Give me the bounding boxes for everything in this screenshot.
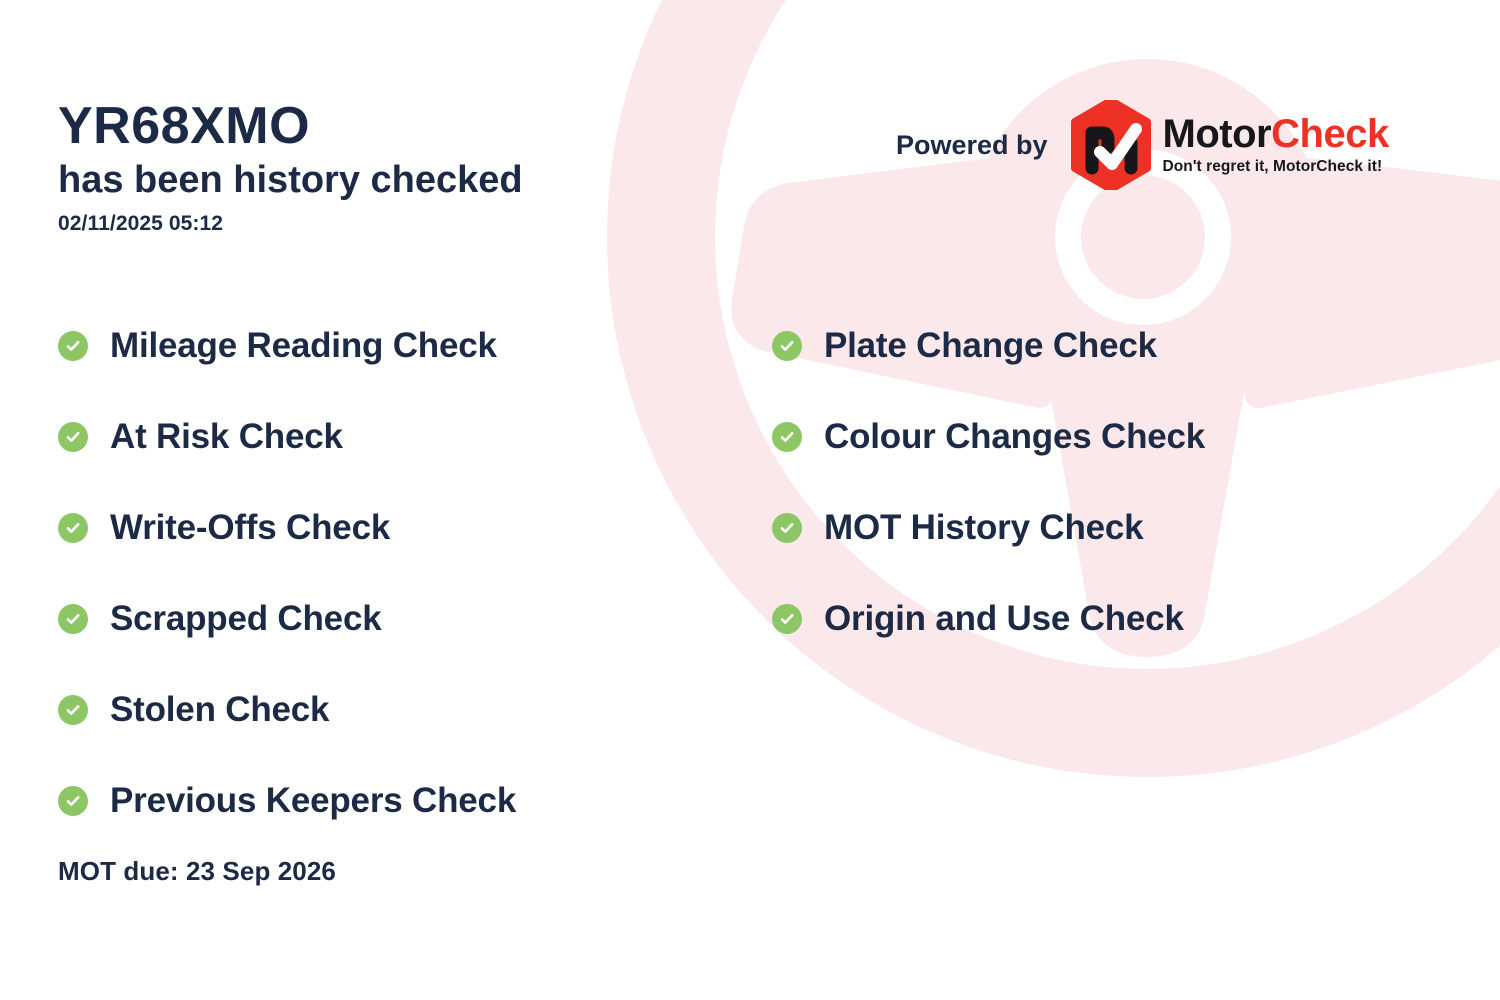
powered-by-brand: Powered by MotorCheck Don't regret it, M… <box>896 100 1389 190</box>
check-circle-icon <box>58 695 88 725</box>
check-circle-icon <box>772 422 802 452</box>
check-item-label: Write-Offs Check <box>110 508 390 548</box>
check-circle-icon <box>772 513 802 543</box>
mot-due-label: MOT due: 23 Sep 2026 <box>58 856 336 887</box>
check-item-label: MOT History Check <box>824 508 1143 548</box>
check-item: Write-Offs Check <box>58 482 758 573</box>
check-item-label: Origin and Use Check <box>824 599 1184 639</box>
vehicle-history-check-card: YR68XMO has been history checked 02/11/2… <box>0 0 1500 1000</box>
check-item-label: Plate Change Check <box>824 326 1157 366</box>
motorcheck-wordmark: MotorCheck Don't regret it, MotorCheck i… <box>1163 114 1389 176</box>
registration-plate: YR68XMO <box>58 98 778 154</box>
check-circle-icon <box>772 331 802 361</box>
check-circle-icon <box>772 604 802 634</box>
vehicle-header: YR68XMO has been history checked 02/11/2… <box>58 98 778 236</box>
motorcheck-hexagon-m-check-icon <box>1070 100 1152 190</box>
checks-right-column: Plate Change CheckColour Changes CheckMO… <box>772 300 1432 664</box>
check-circle-icon <box>58 786 88 816</box>
check-item-label: Colour Changes Check <box>824 417 1205 457</box>
check-item: Mileage Reading Check <box>58 300 758 391</box>
check-item: At Risk Check <box>58 391 758 482</box>
wordmark-text: MotorCheck <box>1163 114 1389 154</box>
check-item: MOT History Check <box>772 482 1432 573</box>
check-item-label: Stolen Check <box>110 690 329 730</box>
status-headline: has been history checked <box>58 156 778 205</box>
brand-tagline: Don't regret it, MotorCheck it! <box>1163 158 1389 176</box>
wordmark-motor: Motor <box>1163 112 1272 156</box>
check-item: Stolen Check <box>58 664 758 755</box>
check-item: Origin and Use Check <box>772 573 1432 664</box>
checks-left-column: Mileage Reading CheckAt Risk CheckWrite-… <box>58 300 758 846</box>
check-circle-icon <box>58 604 88 634</box>
check-item-label: Mileage Reading Check <box>110 326 497 366</box>
check-item: Plate Change Check <box>772 300 1432 391</box>
check-item-label: At Risk Check <box>110 417 343 457</box>
check-item-label: Scrapped Check <box>110 599 381 639</box>
check-item: Scrapped Check <box>58 573 758 664</box>
check-circle-icon <box>58 331 88 361</box>
check-item: Colour Changes Check <box>772 391 1432 482</box>
check-item-label: Previous Keepers Check <box>110 781 516 821</box>
check-circle-icon <box>58 422 88 452</box>
check-item: Previous Keepers Check <box>58 755 758 846</box>
powered-by-label: Powered by <box>896 130 1048 161</box>
check-circle-icon <box>58 513 88 543</box>
wordmark-check: Check <box>1271 112 1389 156</box>
motorcheck-logo[interactable]: MotorCheck Don't regret it, MotorCheck i… <box>1070 100 1389 190</box>
checked-timestamp: 02/11/2025 05:12 <box>58 212 778 236</box>
